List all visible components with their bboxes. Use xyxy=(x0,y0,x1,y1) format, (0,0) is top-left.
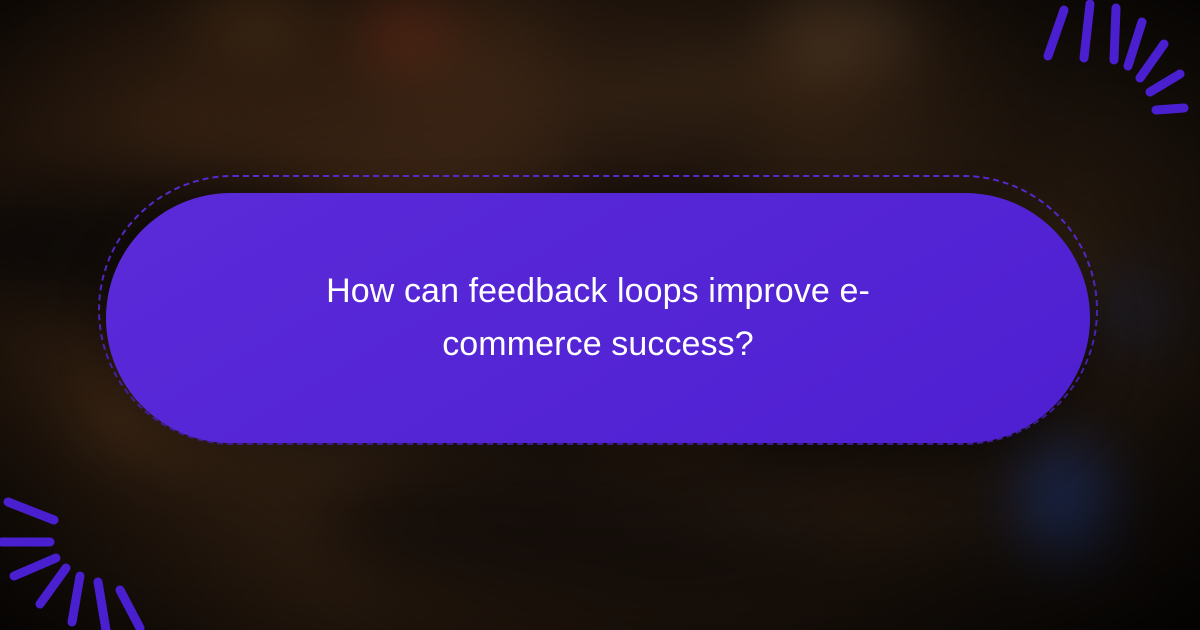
background-highlight-blue xyxy=(1020,440,1110,560)
background-highlight-red xyxy=(360,10,450,52)
card-body: How can feedback loops improve e-commerc… xyxy=(106,193,1090,443)
question-text: How can feedback loops improve e-commerc… xyxy=(248,265,948,370)
background-streak-1 xyxy=(480,33,1001,121)
background-highlight-amber xyxy=(190,0,310,48)
question-card: How can feedback loops improve e-commerc… xyxy=(98,175,1098,445)
poster-canvas: How can feedback loops improve e-commerc… xyxy=(0,0,1200,630)
sparkle-burst-bottom-left-icon xyxy=(0,450,200,630)
background-highlight-blue-2 xyxy=(1100,270,1170,350)
sparkle-burst-top-right-icon xyxy=(1004,0,1184,170)
